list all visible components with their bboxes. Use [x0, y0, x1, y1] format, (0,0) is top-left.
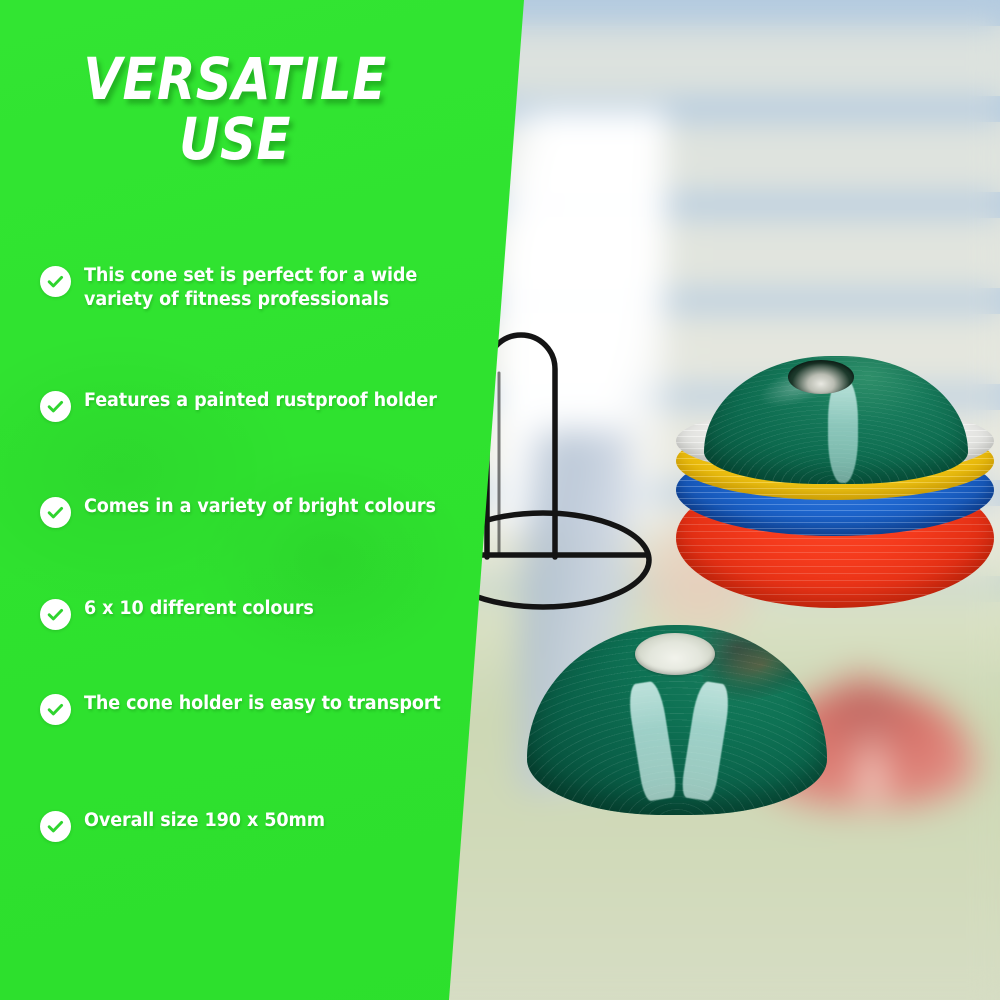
product-feature-image: VERSATILE USE This cone set is perfect f… — [0, 0, 1000, 1000]
list-item-label: 6 x 10 different colours — [84, 597, 314, 621]
check-circle-icon — [40, 391, 71, 422]
list-item-label: This cone set is perfect for a wide vari… — [84, 264, 441, 313]
cone-top-gloss — [828, 379, 858, 483]
check-circle-icon — [40, 497, 71, 528]
list-item-label: Features a painted rustproof holder — [84, 389, 437, 413]
single-cone — [527, 625, 827, 815]
list-item-label: Comes in a variety of bright colours — [84, 495, 436, 519]
list-item: This cone set is perfect for a wide vari… — [40, 264, 460, 313]
check-circle-icon — [40, 599, 71, 630]
list-item-label: Overall size 190 x 50mm — [84, 809, 325, 833]
check-circle-icon — [40, 694, 71, 725]
background-cone-highlight — [855, 714, 889, 800]
check-circle-icon — [40, 266, 71, 297]
list-item: 6 x 10 different colours — [40, 597, 326, 630]
list-item: Comes in a variety of bright colours — [40, 495, 454, 528]
list-item: The cone holder is easy to transport — [40, 692, 459, 725]
list-item: Features a painted rustproof holder — [40, 389, 455, 422]
single-cone-centre-hole — [635, 633, 715, 675]
list-item: Overall size 190 x 50mm — [40, 809, 338, 842]
list-item-label: The cone holder is easy to transport — [84, 692, 441, 716]
cone-top-centre-hole — [788, 360, 854, 394]
check-circle-icon — [40, 811, 71, 842]
holder-handle — [487, 335, 555, 557]
stacked-cones — [676, 356, 994, 628]
